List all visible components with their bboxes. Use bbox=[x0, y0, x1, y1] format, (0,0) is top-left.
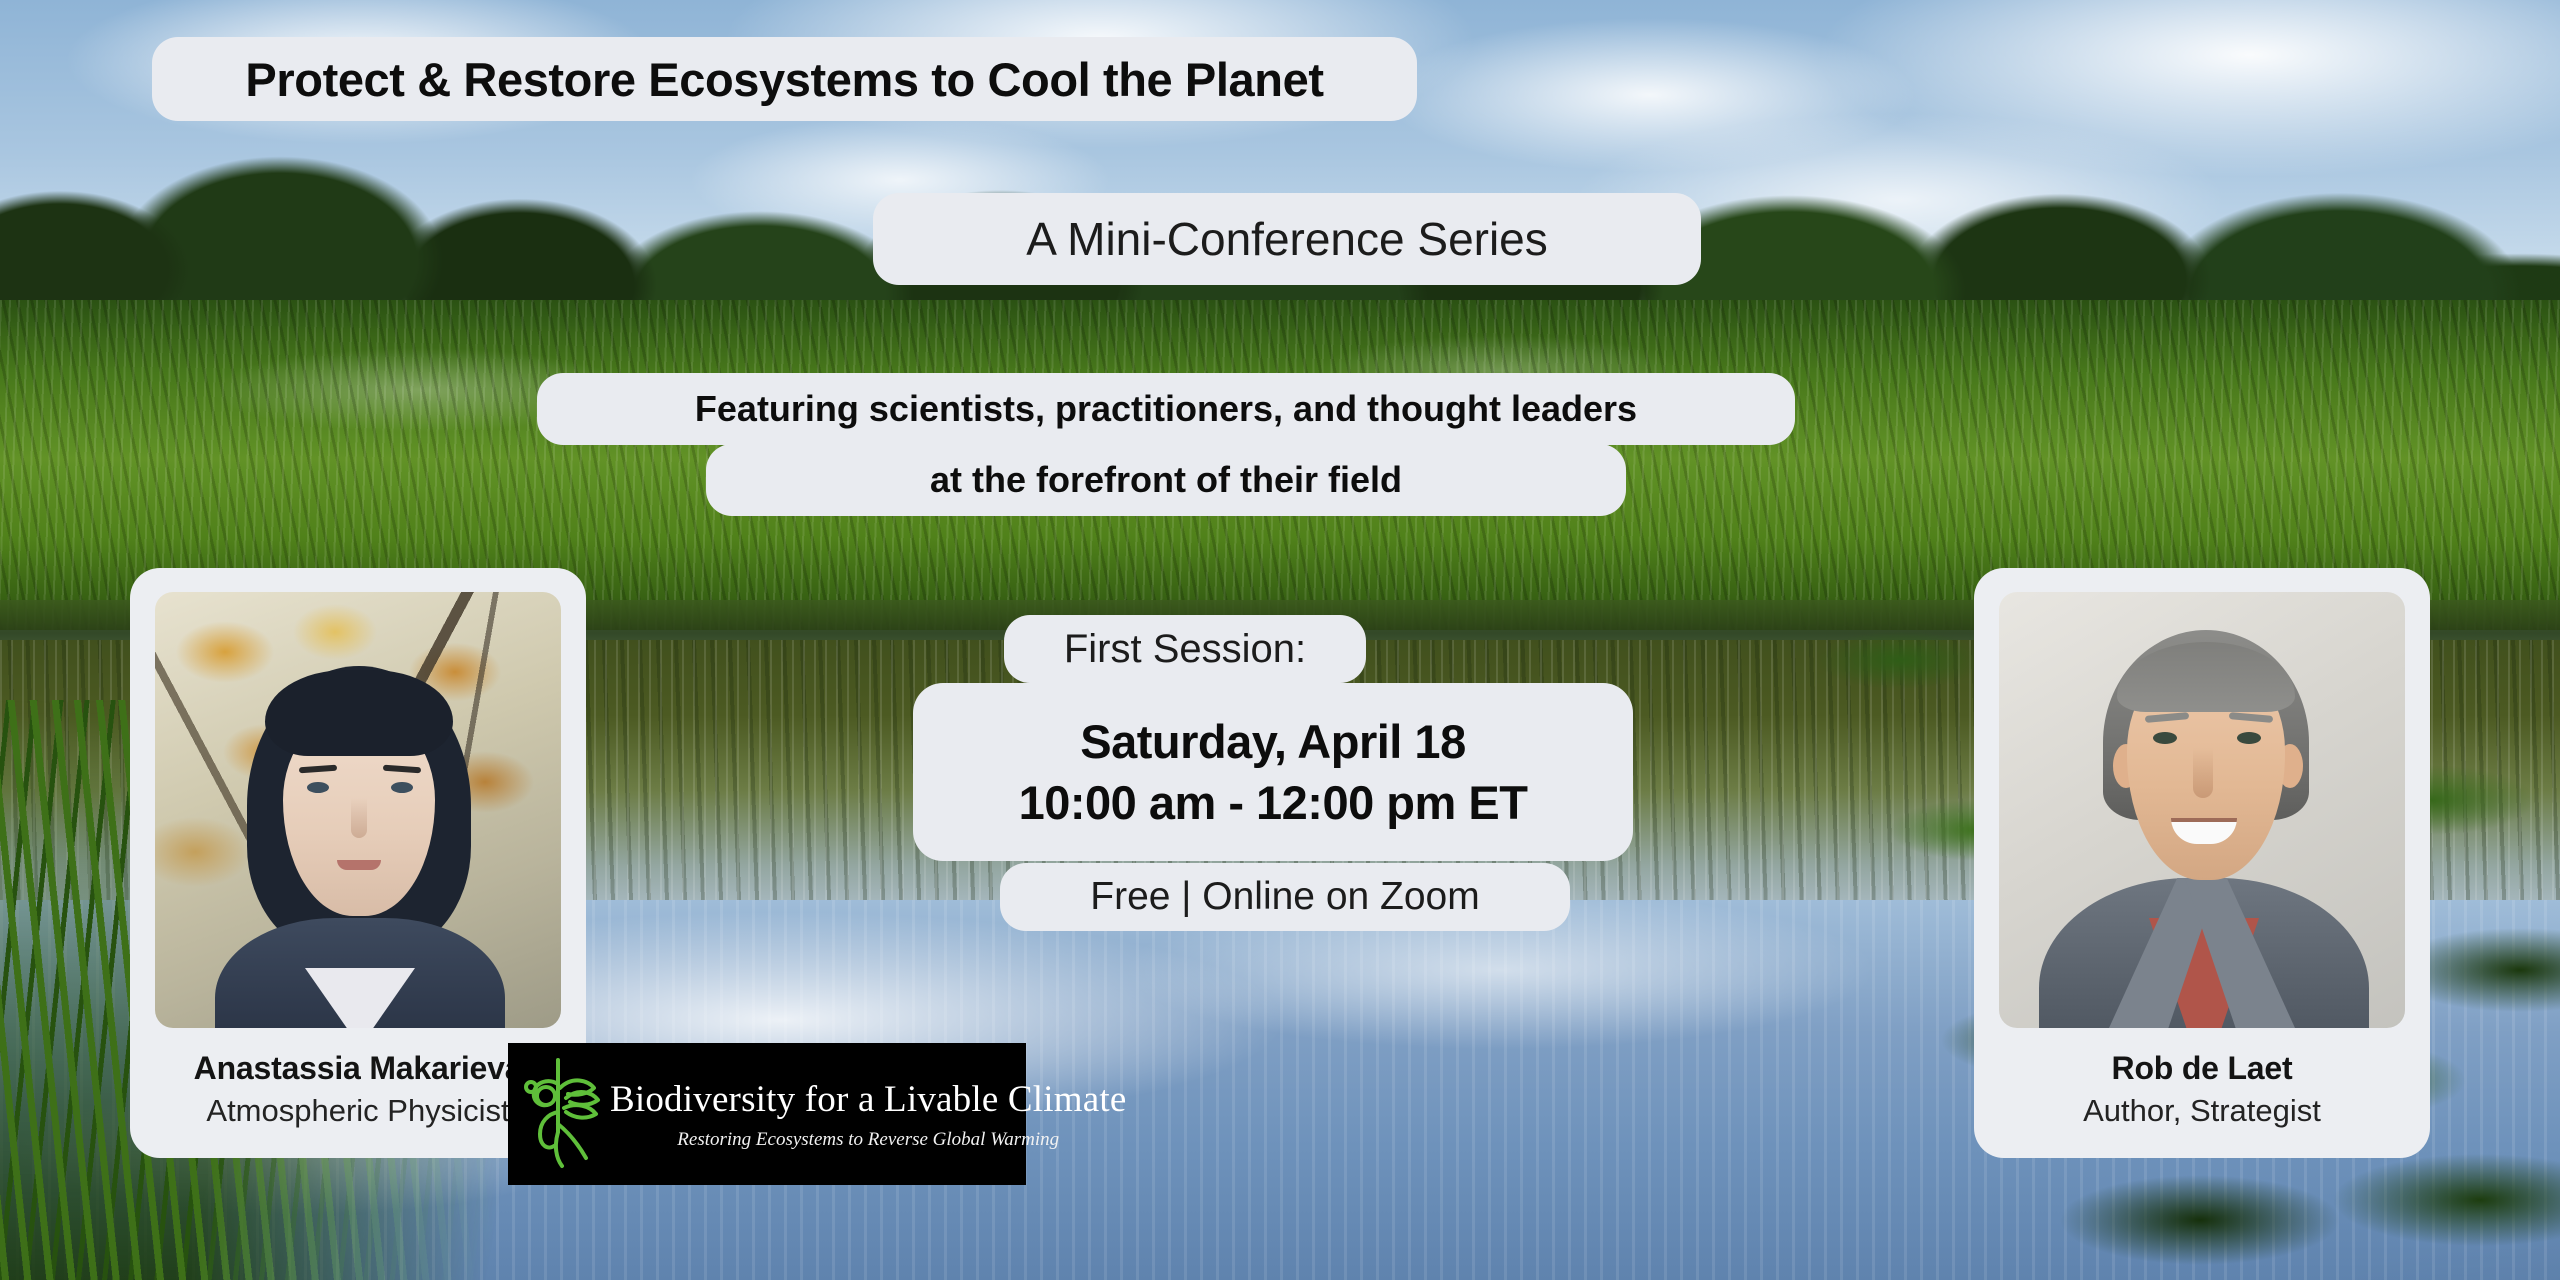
page-title: Protect & Restore Ecosystems to Cool the… bbox=[152, 37, 1417, 121]
logo-title: Biodiversity for a Livable Climate bbox=[610, 1078, 1126, 1121]
green-mantis-icon bbox=[514, 1054, 610, 1174]
speaker-name: Rob de Laet bbox=[2112, 1050, 2293, 1087]
speaker-role: Atmospheric Physicist bbox=[206, 1093, 509, 1129]
feature-text-line-2: at the forefront of their field bbox=[706, 444, 1626, 516]
session-datetime-card: Saturday, April 18 10:00 am - 12:00 pm E… bbox=[913, 683, 1633, 861]
session-access-info: Free | Online on Zoom bbox=[1000, 863, 1570, 931]
portrait-rob bbox=[1999, 592, 2405, 1028]
portrait-anastassia bbox=[155, 592, 561, 1028]
session-time: 10:00 am - 12:00 pm ET bbox=[1019, 775, 1528, 830]
logo-tagline: Restoring Ecosystems to Reverse Global W… bbox=[677, 1129, 1059, 1151]
page-subtitle: A Mini-Conference Series bbox=[873, 193, 1701, 285]
organization-logo-band: Biodiversity for a Livable Climate Resto… bbox=[508, 1043, 1026, 1185]
feature-text-line-1: Featuring scientists, practitioners, and… bbox=[537, 373, 1795, 445]
session-date: Saturday, April 18 bbox=[1080, 714, 1465, 769]
event-banner: Protect & Restore Ecosystems to Cool the… bbox=[0, 0, 2560, 1280]
speaker-name: Anastassia Makarieva bbox=[194, 1050, 523, 1087]
session-label: First Session: bbox=[1004, 615, 1366, 683]
speaker-card-rob: Rob de Laet Author, Strategist bbox=[1974, 568, 2430, 1158]
speaker-role: Author, Strategist bbox=[2083, 1093, 2321, 1129]
